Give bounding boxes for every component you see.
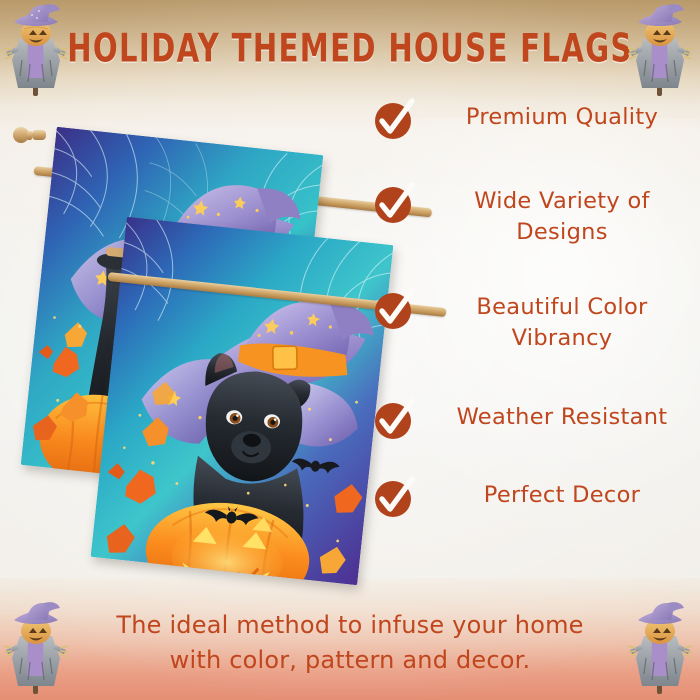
- check-circle-icon: [372, 182, 416, 226]
- check-circle-icon: [372, 288, 416, 332]
- feature-item: Weather Resistant: [372, 398, 694, 442]
- check-circle-icon: [372, 398, 416, 442]
- check-circle-icon: [372, 476, 416, 520]
- feature-item: Premium Quality: [372, 98, 694, 142]
- feature-item: Beautiful Color Vibrancy: [372, 288, 694, 354]
- flag-pole-finial-icon: [12, 124, 46, 146]
- feature-item: Perfect Decor: [372, 476, 694, 520]
- house-flag-front[interactable]: [91, 217, 394, 586]
- feature-item: Wide Variety of Designs: [372, 182, 694, 248]
- scarecrow-icon: [4, 2, 68, 98]
- footer-caption-line-1: The ideal method to infuse your home: [116, 611, 583, 639]
- footer-caption-line-2: with color, pattern and decor.: [40, 643, 660, 678]
- feature-label: Wide Variety of Designs: [430, 182, 694, 248]
- feature-label: Beautiful Color Vibrancy: [430, 288, 694, 354]
- promo-banner: HOLIDAY THEMED HOUSE FLAGS: [0, 0, 700, 700]
- check-circle-icon: [372, 98, 416, 142]
- scarecrow-icon: [628, 2, 692, 98]
- footer-caption: The ideal method to infuse your home wit…: [40, 608, 660, 678]
- feature-label: Perfect Decor: [430, 476, 694, 511]
- page-title: HOLIDAY THEMED HOUSE FLAGS: [11, 26, 690, 72]
- feature-label: Weather Resistant: [430, 398, 694, 433]
- feature-label: Premium Quality: [430, 98, 694, 133]
